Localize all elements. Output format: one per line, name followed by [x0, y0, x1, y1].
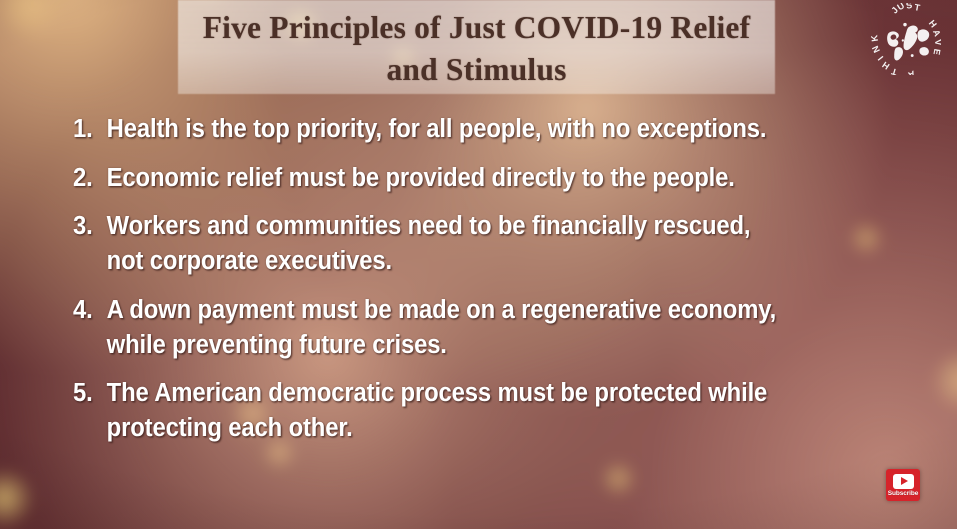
svg-text:E: E [932, 48, 941, 56]
list-item-3-number: 3. [73, 209, 107, 244]
svg-text:V: V [933, 39, 941, 46]
svg-text:I: I [876, 54, 885, 62]
list-item-2-line-1: Economic relief must be provided directl… [107, 161, 840, 196]
list-item-4-line-2: while preventing future crises. [107, 328, 840, 363]
list-item-1: 1. Health is the top priority, for all p… [73, 112, 840, 147]
globe-world-map-icon [887, 23, 929, 61]
list-item-5-line-1: The American democratic process must be … [107, 376, 840, 411]
list-item-1-text: Health is the top priority, for all peop… [107, 112, 840, 147]
svg-text:H: H [880, 60, 891, 72]
list-item-2: 2. Economic relief must be provided dire… [73, 161, 840, 196]
list-item-5-number: 5. [73, 376, 107, 411]
list-item-4-line-1: A down payment must be made on a regener… [107, 293, 840, 328]
title-line-2: and Stimulus [386, 49, 566, 91]
list-item-5-line-2: protecting each other. [107, 411, 840, 446]
channel-watermark-logo[interactable]: J U S T H A V E A T H I N K [869, 3, 941, 75]
svg-text:T: T [914, 3, 922, 13]
play-triangle-icon [901, 477, 908, 485]
list-item-5-text: The American democratic process must be … [107, 376, 840, 446]
title-line-1: Five Principles of Just COVID-19 Relief [203, 7, 751, 49]
svg-text:K: K [869, 34, 880, 42]
svg-text:A: A [931, 28, 941, 38]
list-item-2-number: 2. [73, 161, 107, 196]
list-item-4-text: A down payment must be made on a regener… [107, 293, 840, 363]
svg-text:A: A [906, 68, 916, 75]
list-item-4: 4. A down payment must be made on a rege… [73, 293, 840, 363]
list-item-5: 5. The American democratic process must … [73, 376, 840, 446]
list-item-4-number: 4. [73, 293, 107, 328]
subscribe-label: Subscribe [888, 490, 919, 498]
youtube-subscribe-button[interactable]: Subscribe [886, 469, 920, 501]
list-item-3-line-2: not corporate executives. [107, 244, 840, 279]
list-item-1-line-1: Health is the top priority, for all peop… [107, 112, 840, 147]
svg-text:S: S [905, 3, 913, 11]
principles-list: 1. Health is the top priority, for all p… [73, 112, 893, 460]
video-frame: Five Principles of Just COVID-19 Relief … [0, 0, 957, 529]
list-item-3-text: Workers and communities need to be finan… [107, 209, 840, 279]
list-item-3-line-1: Workers and communities need to be finan… [107, 209, 840, 244]
svg-text:N: N [870, 44, 882, 54]
page-title: Five Principles of Just COVID-19 Relief … [178, 2, 775, 96]
list-item-3: 3. Workers and communities need to be fi… [73, 209, 840, 279]
svg-text:T: T [890, 66, 899, 75]
youtube-play-icon [893, 474, 914, 489]
list-item-1-number: 1. [73, 112, 107, 147]
list-item-2-text: Economic relief must be provided directl… [107, 161, 840, 196]
svg-text:H: H [927, 18, 939, 29]
